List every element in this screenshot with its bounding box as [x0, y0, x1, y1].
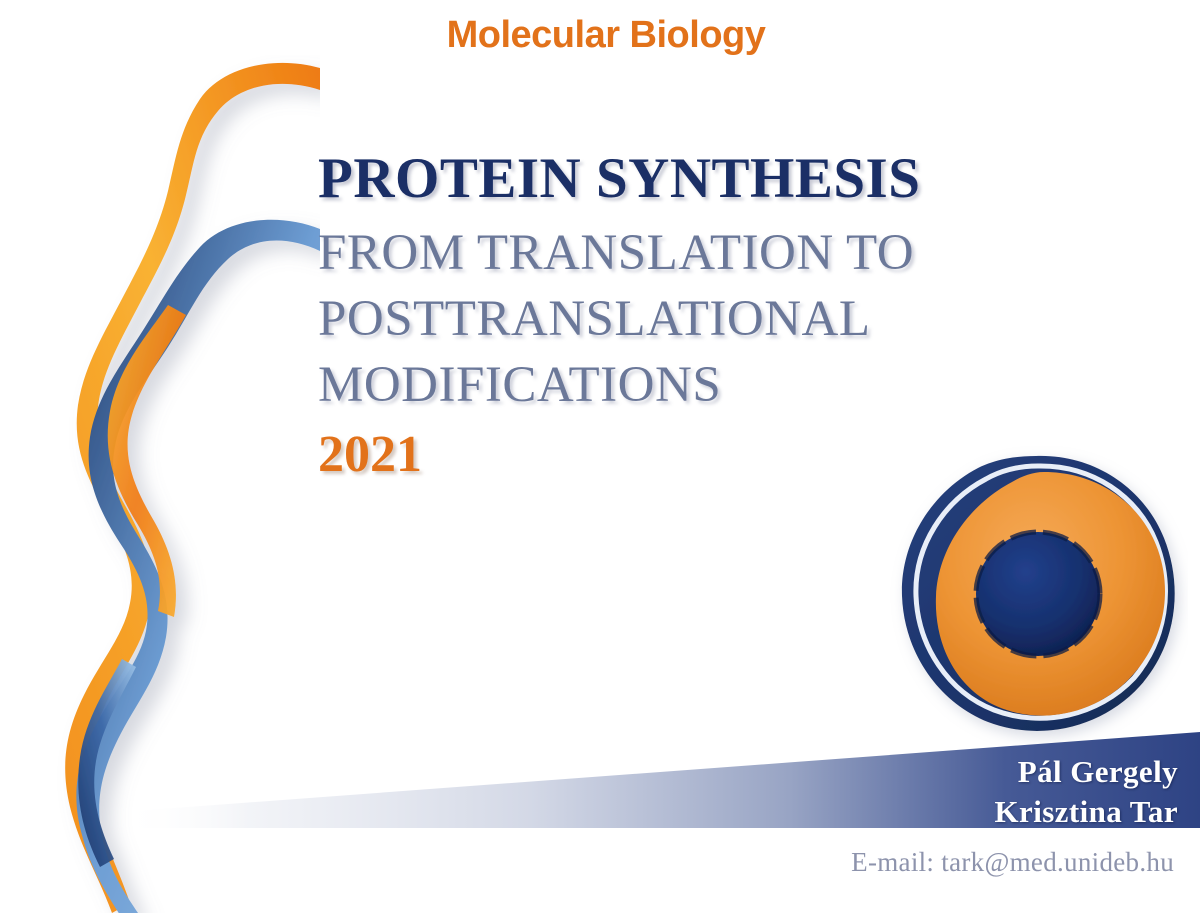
page-title: PROTEIN SYNTHESIS	[318, 148, 1138, 210]
subtitle-line-3: MODIFICATIONS	[318, 352, 1138, 418]
course-label: Molecular Biology	[0, 14, 1200, 57]
helix-strand-blue	[76, 220, 320, 913]
helix-accent-blue	[78, 659, 136, 867]
helix-strand-orange	[65, 63, 320, 913]
title-block: PROTEIN SYNTHESIS FROM TRANSLATION TO PO…	[318, 148, 1138, 487]
dna-helix-graphic	[0, 55, 320, 913]
author-block: Pál Gergely Krisztina Tar	[995, 752, 1178, 833]
author-name-1: Pál Gergely	[995, 752, 1178, 792]
helix-accent-orange	[108, 305, 186, 617]
subtitle-line-1: FROM TRANSLATION TO	[318, 220, 1138, 286]
author-name-2: Krisztina Tar	[995, 792, 1178, 832]
cell-diagram-icon	[888, 446, 1188, 746]
contact-email: E-mail: tark@med.unideb.hu	[851, 847, 1174, 878]
subtitle-line-2: POSTTRANSLATIONAL	[318, 286, 1138, 352]
presentation-slide: Molecular Biology	[0, 0, 1200, 913]
